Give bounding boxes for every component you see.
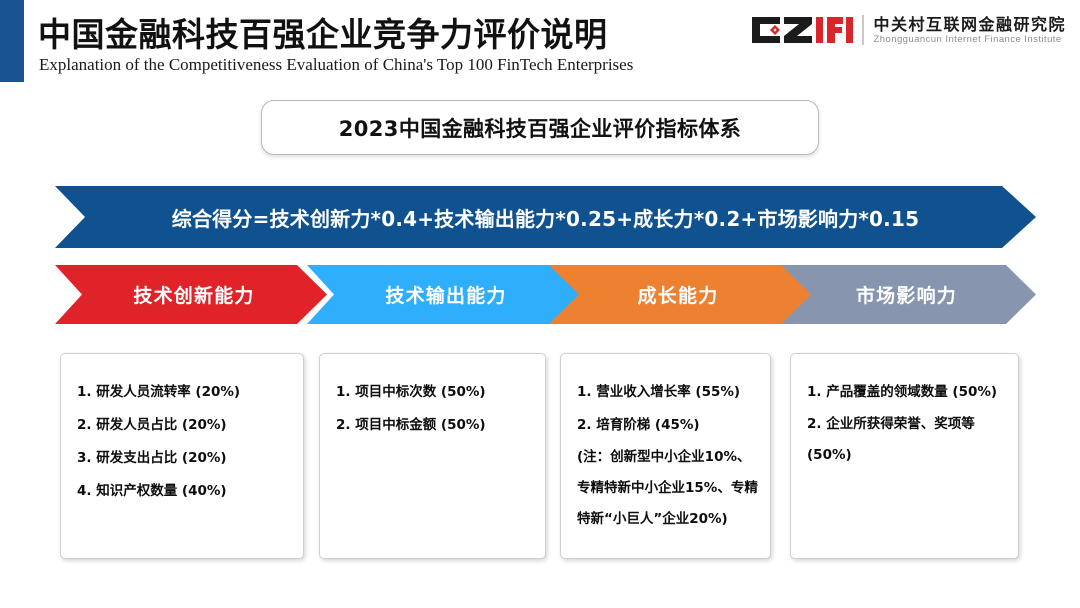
indicator-line: 2. 研发人员占比 (20%) xyxy=(77,409,291,442)
indicator-card-3: 1. 营业收入增长率 (55%)2. 培育阶梯 (45%)(注：创新型中小企业1… xyxy=(560,353,771,559)
logo-wordmark: 中关村互联网金融研究院 Zhongguancun Internet Financ… xyxy=(873,15,1066,46)
header-accent-bar xyxy=(0,0,24,82)
slide-header: 中国金融科技百强企业竞争力评价说明 Explanation of the Com… xyxy=(0,0,1080,86)
indicator-card-row: 1. 研发人员流转率 (20%)2. 研发人员占比 (20%)3. 研发支出占比… xyxy=(0,353,1080,563)
pillar-arrow-3[interactable]: 成长能力 xyxy=(539,265,811,324)
indicator-line: 2. 项目中标金额 (50%) xyxy=(336,409,533,442)
indicator-card-1: 1. 研发人员流转率 (20%)2. 研发人员占比 (20%)3. 研发支出占比… xyxy=(60,353,304,559)
indicator-line: 1. 项目中标次数 (50%) xyxy=(336,376,533,409)
indicator-line: 4. 知识产权数量 (40%) xyxy=(77,475,291,508)
indicator-line: 2. 培育阶梯 (45%) xyxy=(577,409,758,442)
pillar-arrow-1[interactable]: 技术创新能力 xyxy=(55,265,327,324)
pillar-arrow-label: 技术创新能力 xyxy=(127,281,254,308)
score-formula-banner: 综合得分=技术创新力*0.4+技术输出能力*0.25+成长力*0.2+市场影响力… xyxy=(55,186,1036,248)
pillar-arrow-label: 技术输出能力 xyxy=(379,281,506,308)
slide-canvas: 中国金融科技百强企业竞争力评价说明 Explanation of the Com… xyxy=(0,0,1080,608)
indicator-card-4: 1. 产品覆盖的领域数量 (50%)2. 企业所获得荣誉、奖项等 (50%) xyxy=(790,353,1019,559)
pillar-arrow-2[interactable]: 技术输出能力 xyxy=(307,265,579,324)
pillar-arrow-label: 成长能力 xyxy=(632,281,719,308)
page-title: 中国金融科技百强企业竞争力评价说明 xyxy=(38,8,608,56)
indicator-line: (注：创新型中小企业10%、专精特新中小企业15%、专精特新“小巨人”企业20%… xyxy=(577,442,758,535)
logo-name-cn: 中关村互联网金融研究院 xyxy=(873,15,1066,34)
indicator-card-2: 1. 项目中标次数 (50%)2. 项目中标金额 (50%) xyxy=(319,353,546,559)
logo-name-en: Zhongguancun Internet Finance Institute xyxy=(873,34,1066,46)
institute-logo: 中关村互联网金融研究院 Zhongguancun Internet Financ… xyxy=(750,10,1066,50)
diagram-title-pill: 2023中国金融科技百强企业评价指标体系 xyxy=(261,100,819,155)
logo-divider xyxy=(862,15,864,45)
indicator-line: 1. 研发人员流转率 (20%) xyxy=(77,376,291,409)
page-subtitle: Explanation of the Competitiveness Evalu… xyxy=(39,55,633,75)
indicator-line: 2. 企业所获得荣誉、奖项等 (50%) xyxy=(807,409,1006,471)
indicator-line: 3. 研发支出占比 (20%) xyxy=(77,442,291,475)
indicator-line: 1. 营业收入增长率 (55%) xyxy=(577,376,758,409)
diagram-title-text: 2023中国金融科技百强企业评价指标体系 xyxy=(339,113,741,143)
pillar-arrow-label: 市场影响力 xyxy=(850,281,957,308)
score-formula-text: 综合得分=技术创新力*0.4+技术输出能力*0.25+成长力*0.2+市场影响力… xyxy=(172,203,919,232)
pillar-arrow-row: 技术创新能力技术输出能力成长能力市场影响力 xyxy=(55,265,1036,324)
czifi-logomark-icon xyxy=(750,15,854,45)
indicator-line: 1. 产品覆盖的领域数量 (50%) xyxy=(807,376,1006,409)
